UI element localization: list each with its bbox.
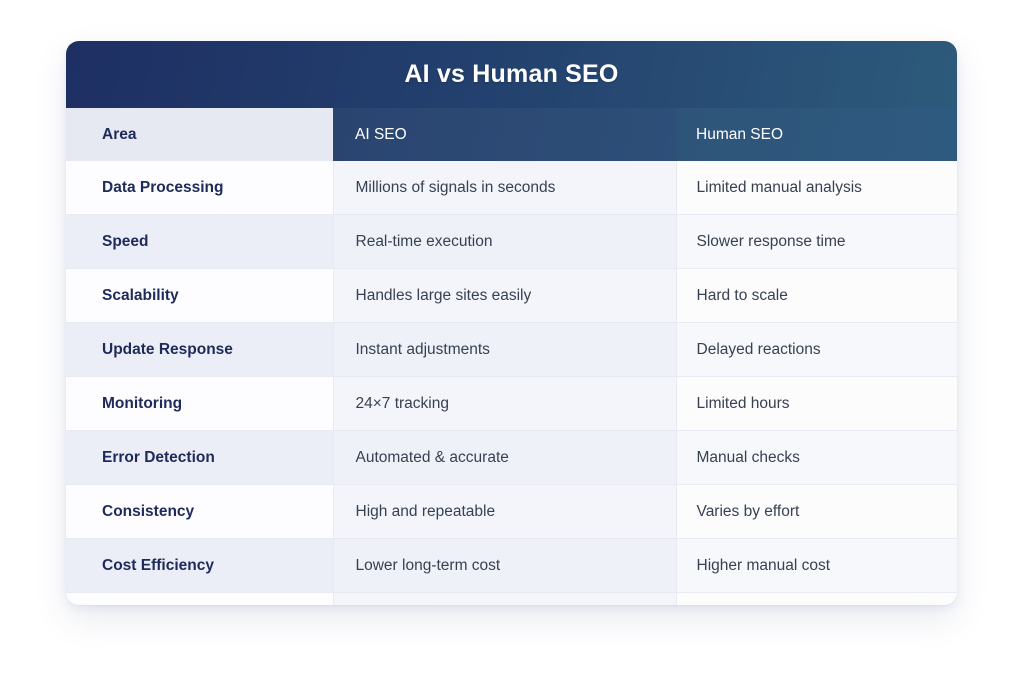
- cell-ai-seo: Lower long-term cost: [333, 593, 676, 606]
- cell-area: Cost Efficiency: [66, 593, 333, 606]
- table-row: Cost Efficiency Lower long-term cost Hig…: [66, 593, 957, 606]
- column-header-ai-seo[interactable]: AI SEO: [333, 108, 676, 161]
- cell-area: Scalability: [66, 269, 333, 323]
- cell-ai-seo: High and repeatable: [333, 485, 676, 539]
- cell-human-seo: Slower response time: [676, 215, 957, 269]
- comparison-table: Area AI SEO Human SEO Data Processing Mi…: [66, 108, 957, 605]
- cell-ai-seo: Real-time execution: [333, 215, 676, 269]
- cell-area: Update Response: [66, 323, 333, 377]
- table-row: Data Processing Millions of signals in s…: [66, 161, 957, 215]
- card-title: AI vs Human SEO: [66, 41, 957, 108]
- table-row: Update Response Instant adjustments Dela…: [66, 323, 957, 377]
- table-header: Area AI SEO Human SEO: [66, 108, 957, 161]
- cell-area: Data Processing: [66, 161, 333, 215]
- table-row: Error Detection Automated & accurate Man…: [66, 431, 957, 485]
- cell-area: Speed: [66, 215, 333, 269]
- table-body: Data Processing Millions of signals in s…: [66, 161, 957, 605]
- cell-human-seo: Limited manual analysis: [676, 161, 957, 215]
- cell-human-seo: Higher manual cost: [676, 593, 957, 606]
- column-header-human-seo[interactable]: Human SEO: [676, 108, 957, 161]
- column-header-area[interactable]: Area: [66, 108, 333, 161]
- cell-ai-seo: Lower long-term cost: [333, 539, 676, 593]
- cell-ai-seo: Handles large sites easily: [333, 269, 676, 323]
- table-row: Scalability Handles large sites easily H…: [66, 269, 957, 323]
- cell-human-seo: Higher manual cost: [676, 539, 957, 593]
- cell-human-seo: Delayed reactions: [676, 323, 957, 377]
- cell-human-seo: Hard to scale: [676, 269, 957, 323]
- cell-area: Error Detection: [66, 431, 333, 485]
- table-row: Cost Efficiency Lower long-term cost Hig…: [66, 539, 957, 593]
- cell-human-seo: Limited hours: [676, 377, 957, 431]
- table-row: Speed Real-time execution Slower respons…: [66, 215, 957, 269]
- comparison-card: AI vs Human SEO Area AI SEO Human SEO Da…: [66, 41, 957, 605]
- cell-human-seo: Varies by effort: [676, 485, 957, 539]
- cell-area: Monitoring: [66, 377, 333, 431]
- cell-area: Consistency: [66, 485, 333, 539]
- cell-area: Cost Efficiency: [66, 539, 333, 593]
- cell-ai-seo: 24×7 tracking: [333, 377, 676, 431]
- cell-ai-seo: Automated & accurate: [333, 431, 676, 485]
- table-row: Monitoring 24×7 tracking Limited hours: [66, 377, 957, 431]
- table-row: Consistency High and repeatable Varies b…: [66, 485, 957, 539]
- table-header-row: Area AI SEO Human SEO: [66, 108, 957, 161]
- cell-ai-seo: Instant adjustments: [333, 323, 676, 377]
- cell-human-seo: Manual checks: [676, 431, 957, 485]
- cell-ai-seo: Millions of signals in seconds: [333, 161, 676, 215]
